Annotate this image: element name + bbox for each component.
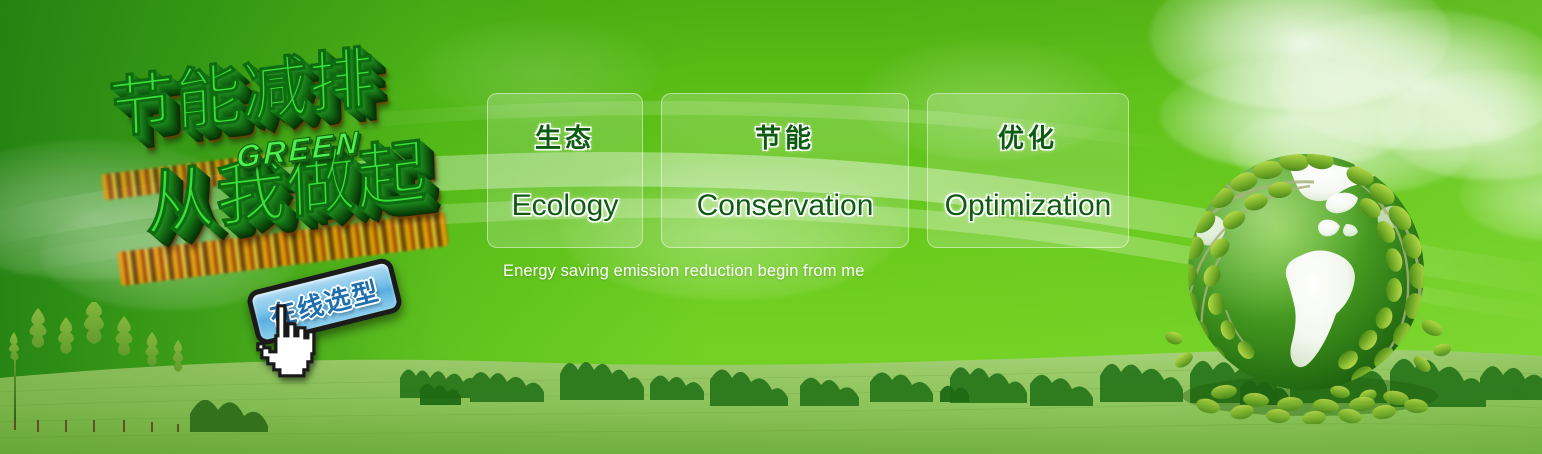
feature-card-cn-label: 生态 xyxy=(535,118,595,155)
feature-card-cn-label: 节能 xyxy=(755,118,815,155)
feature-card-en-label: Conservation xyxy=(697,189,874,223)
feature-card-en-label: Ecology xyxy=(512,189,619,223)
headline-artwork: 节能减排 从我做起 GREEN xyxy=(100,36,480,266)
banner-tagline: Energy saving emission reduction begin f… xyxy=(503,262,864,281)
leafy-earth-globe-icon xyxy=(1164,124,1454,424)
pointing-hand-cursor-icon xyxy=(252,302,322,380)
feature-card-cn-label: 优化 xyxy=(998,118,1058,155)
feature-card-optimization[interactable]: 优化 Optimization xyxy=(927,93,1129,248)
feature-cards: 生态 Ecology 节能 Conservation 优化 Optimizati… xyxy=(487,93,1129,248)
feature-card-conservation[interactable]: 节能 Conservation xyxy=(661,93,909,248)
feature-card-en-label: Optimization xyxy=(945,189,1112,223)
green-energy-banner: 节能减排 从我做起 GREEN 在线选型 生态 Ecology 节能 Conse… xyxy=(0,0,1542,454)
feature-card-ecology[interactable]: 生态 Ecology xyxy=(487,93,643,248)
